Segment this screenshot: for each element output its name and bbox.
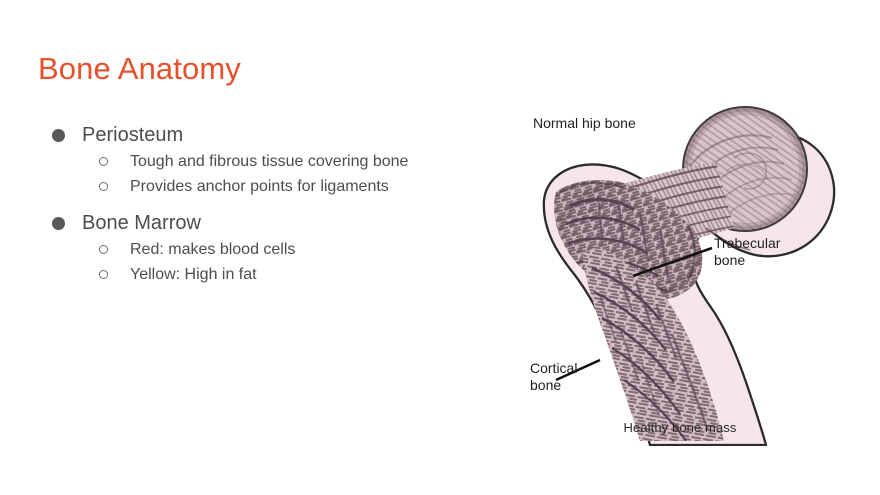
page-title: Bone Anatomy <box>38 51 241 87</box>
sub-bullet-text: Tough and fibrous tissue covering bone <box>130 150 476 174</box>
bullet-ring-icon <box>99 245 108 254</box>
slide-canvas: Bone Anatomy Periosteum Tough and fibrou… <box>0 0 880 495</box>
list-item: Provides anchor points for ligaments <box>46 175 476 199</box>
bullet-ring-icon <box>99 182 108 191</box>
bullet-group-periosteum: Periosteum <box>46 122 476 149</box>
sub-bullet-text: Yellow: High in fat <box>130 263 476 287</box>
label-normal-hip-bone-text: Normal hip bone <box>533 115 636 131</box>
hip-bone-figure: Normal hip bone Trabecular bone Cortical… <box>520 96 840 446</box>
bullet-ring-icon <box>99 270 108 279</box>
bullet-dot-icon <box>52 129 65 142</box>
label-cortical-line2: bone <box>530 377 561 393</box>
figure-label-normal-hip-bone: Normal hip bone <box>533 115 636 131</box>
bullet-heading: Periosteum <box>82 122 476 149</box>
list-item: Yellow: High in fat <box>46 263 476 287</box>
bullet-content: Periosteum Tough and fibrous tissue cove… <box>46 122 476 287</box>
list-item: Tough and fibrous tissue covering bone <box>46 150 476 174</box>
bullet-heading: Bone Marrow <box>82 210 476 237</box>
label-trabecular-line1: Trabecular <box>714 235 781 251</box>
sub-bullet-text: Provides anchor points for ligaments <box>130 175 476 199</box>
bullet-dot-icon <box>52 217 65 230</box>
label-trabecular-line2: bone <box>714 252 745 268</box>
sub-bullet-list-bone-marrow: Red: makes blood cells Yellow: High in f… <box>46 238 476 287</box>
bullet-ring-icon <box>99 157 108 166</box>
figure-caption: Healthy bone mass <box>520 420 840 435</box>
sub-bullet-list-periosteum: Tough and fibrous tissue covering bone P… <box>46 150 476 199</box>
group-spacer <box>46 199 476 210</box>
label-cortical-line1: Cortical <box>530 360 577 376</box>
list-item: Red: makes blood cells <box>46 238 476 262</box>
figure-label-cortical-bone: Cortical bone <box>530 360 600 393</box>
bullet-group-bone-marrow: Bone Marrow <box>46 210 476 237</box>
sub-bullet-text: Red: makes blood cells <box>130 238 476 262</box>
